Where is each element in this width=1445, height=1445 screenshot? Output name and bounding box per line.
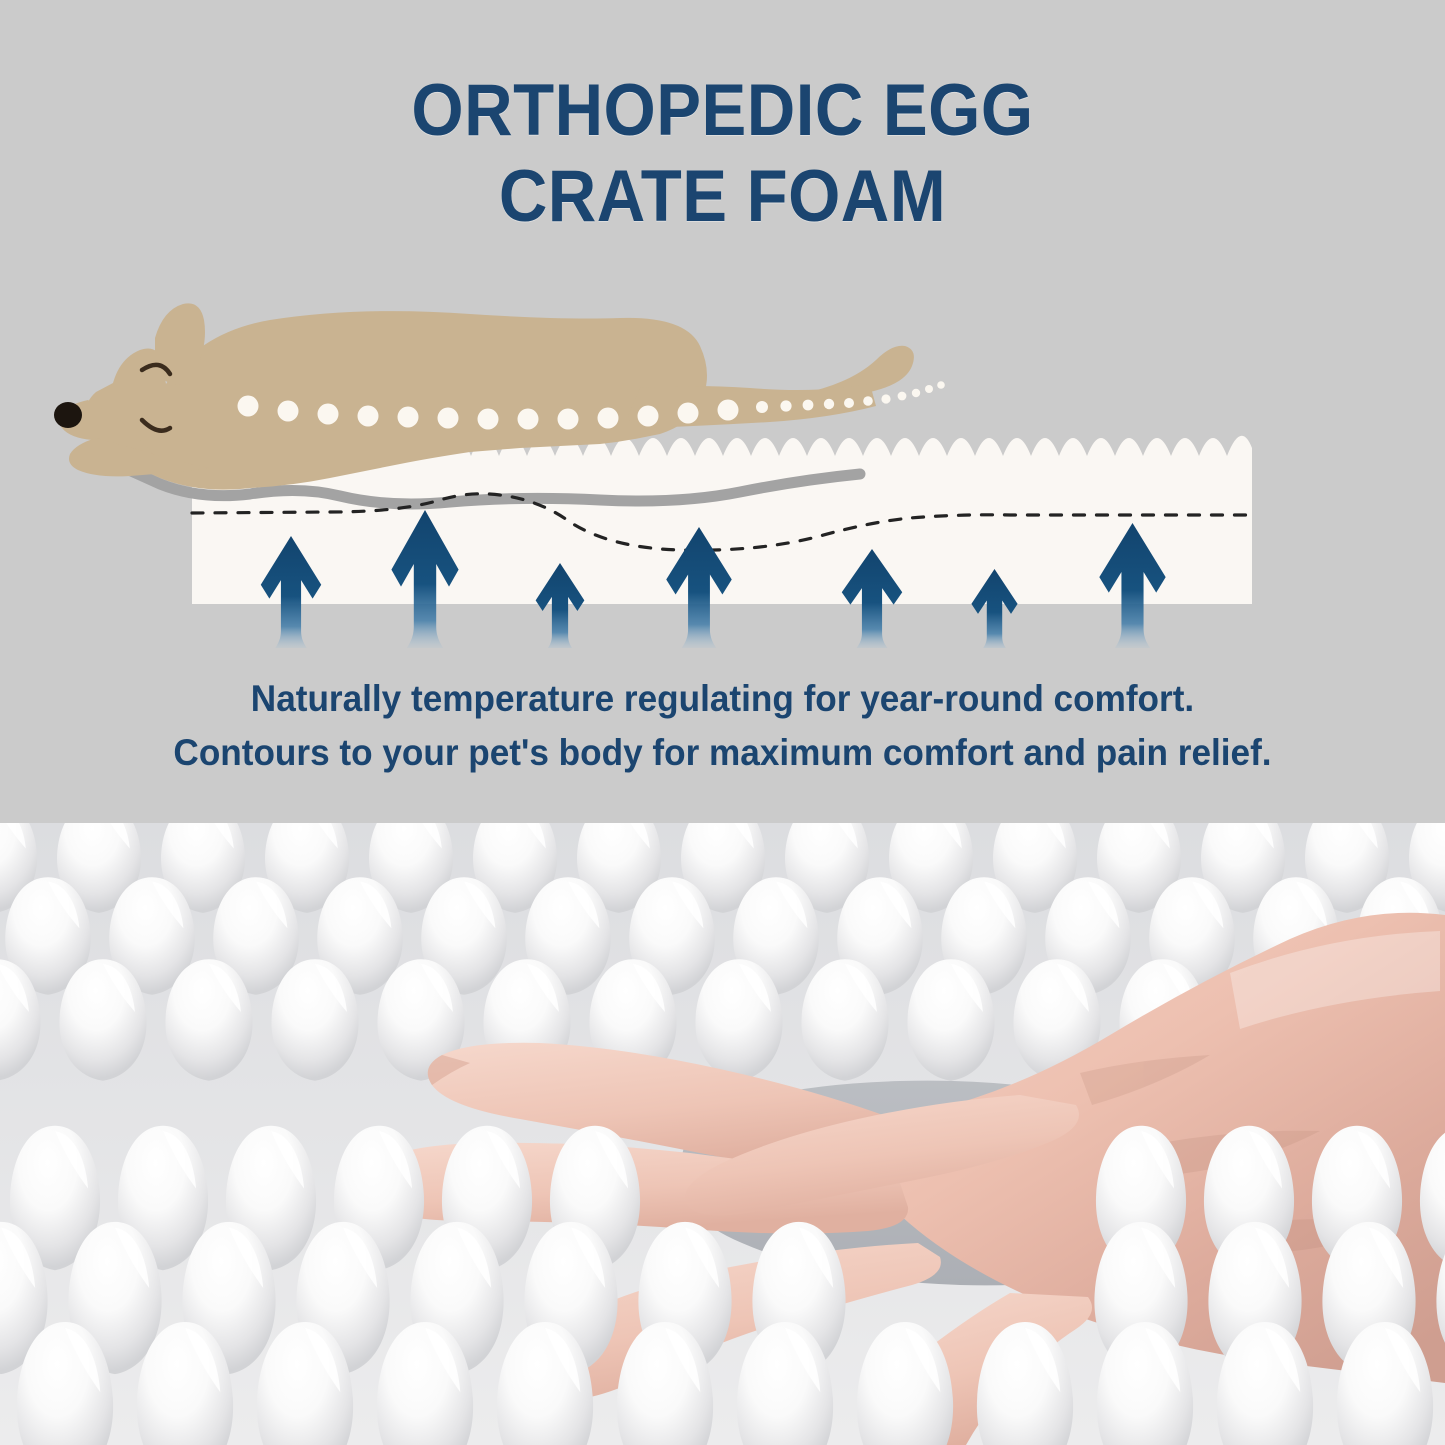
headline-line-2: CRATE FOAM — [58, 154, 1387, 240]
foam-texture-photo — [0, 823, 1445, 1445]
dog-tail-base — [628, 384, 876, 428]
foam-illustration — [0, 288, 1445, 648]
illustration-svg — [0, 288, 1445, 648]
headline-line-1: ORTHOPEDIC EGG — [58, 68, 1387, 154]
foam-photo-svg — [0, 823, 1445, 1445]
dog-nose-icon — [54, 402, 82, 428]
infographic-panel: ORTHOPEDIC EGG CRATE FOAM — [0, 0, 1445, 823]
caption-line-1: Naturally temperature regulating for yea… — [36, 672, 1409, 726]
product-infographic-page: ORTHOPEDIC EGG CRATE FOAM — [0, 0, 1445, 1445]
feature-captions: Naturally temperature regulating for yea… — [36, 672, 1409, 780]
page-title: ORTHOPEDIC EGG CRATE FOAM — [58, 68, 1387, 240]
caption-line-2: Contours to your pet's body for maximum … — [36, 726, 1409, 780]
